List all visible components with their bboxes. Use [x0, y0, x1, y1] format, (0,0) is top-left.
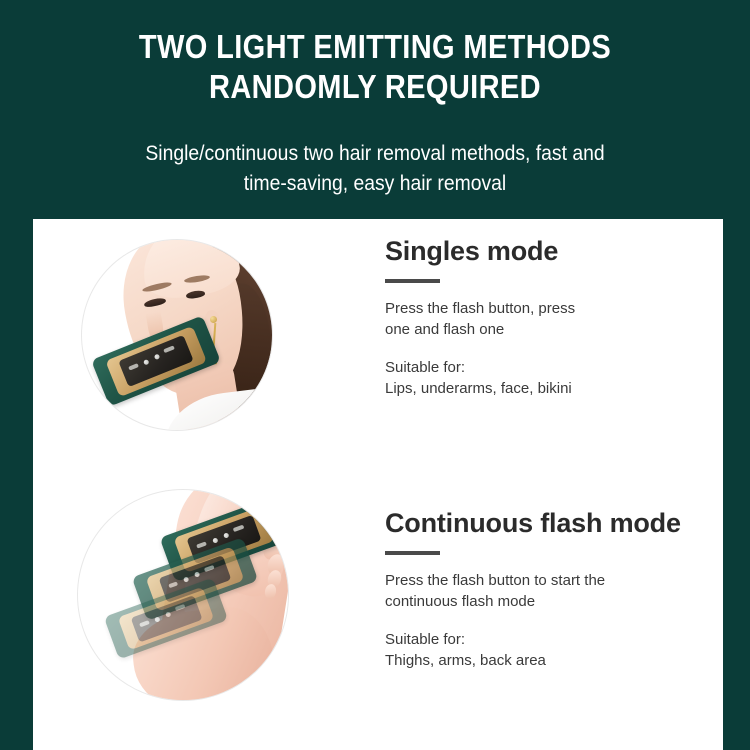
- device-button-1: [183, 577, 189, 583]
- feature-section-singles-mode: Singles mode Press the flash button, pre…: [33, 219, 723, 481]
- heading-divider: [385, 551, 440, 555]
- device-display-bar: [175, 604, 186, 611]
- portrait-illustration: [82, 240, 272, 430]
- mode-heading: Continuous flash mode: [385, 507, 715, 539]
- suitable-for-block: Suitable for: Lips, underarms, face, bik…: [385, 357, 715, 399]
- mode-description-line-2: continuous flash mode: [385, 591, 715, 612]
- suitable-for-label: Suitable for:: [385, 357, 715, 378]
- device-indicator-bar: [196, 542, 206, 549]
- header: TWO LIGHT EMITTING METHODS RANDOMLY REQU…: [0, 0, 750, 198]
- photo-singles-mode: [82, 240, 272, 430]
- mode-description-line-2: one and flash one: [385, 319, 715, 340]
- suitable-for-value: Lips, underarms, face, bikini: [385, 378, 715, 399]
- leg-illustration: [78, 490, 288, 700]
- mode-description: Press the flash button to start the cont…: [385, 570, 715, 612]
- device-button-2: [165, 611, 171, 617]
- device-button-1: [154, 616, 160, 622]
- suitable-for-label: Suitable for:: [385, 629, 715, 650]
- device-button-1: [212, 537, 218, 543]
- text-block-singles-mode: Singles mode Press the flash button, pre…: [385, 235, 715, 399]
- device-display-bar: [163, 345, 175, 353]
- text-block-continuous-flash-mode: Continuous flash mode Press the flash bu…: [385, 507, 715, 671]
- photo-continuous-flash-mode: [78, 490, 288, 700]
- device-display-bar: [204, 564, 215, 571]
- mode-description: Press the flash button, press one and fl…: [385, 298, 715, 340]
- suitable-for-block: Suitable for: Thighs, arms, back area: [385, 629, 715, 671]
- product-feature-page: { "header": { "title_line1": "TWO LIGHT …: [0, 0, 750, 750]
- page-title-line-2: RANDOMLY REQUIRED: [45, 67, 705, 107]
- mode-description-line-1: Press the flash button, press: [385, 298, 715, 319]
- device-button-1: [143, 359, 150, 366]
- mode-heading: Singles mode: [385, 235, 715, 267]
- suitable-for-value: Thighs, arms, back area: [385, 650, 715, 671]
- device-indicator-bar: [129, 363, 139, 370]
- device-indicator-bar: [168, 581, 178, 588]
- page-title-line-1: TWO LIGHT EMITTING METHODS: [45, 27, 705, 67]
- device-button-2: [154, 353, 161, 360]
- feature-section-continuous-flash-mode: Continuous flash mode Press the flash bu…: [33, 481, 723, 750]
- device-button-2: [223, 532, 229, 538]
- content-card: Singles mode Press the flash button, pre…: [33, 219, 723, 750]
- mode-description-line-1: Press the flash button to start the: [385, 570, 715, 591]
- heading-divider: [385, 279, 440, 283]
- device-indicator-bar: [139, 621, 149, 628]
- page-subtitle-line-2: time-saving, easy hair removal: [38, 168, 713, 198]
- device-display-bar: [233, 525, 244, 532]
- page-subtitle-line-1: Single/continuous two hair removal metho…: [38, 138, 713, 168]
- device-button-2: [194, 571, 200, 577]
